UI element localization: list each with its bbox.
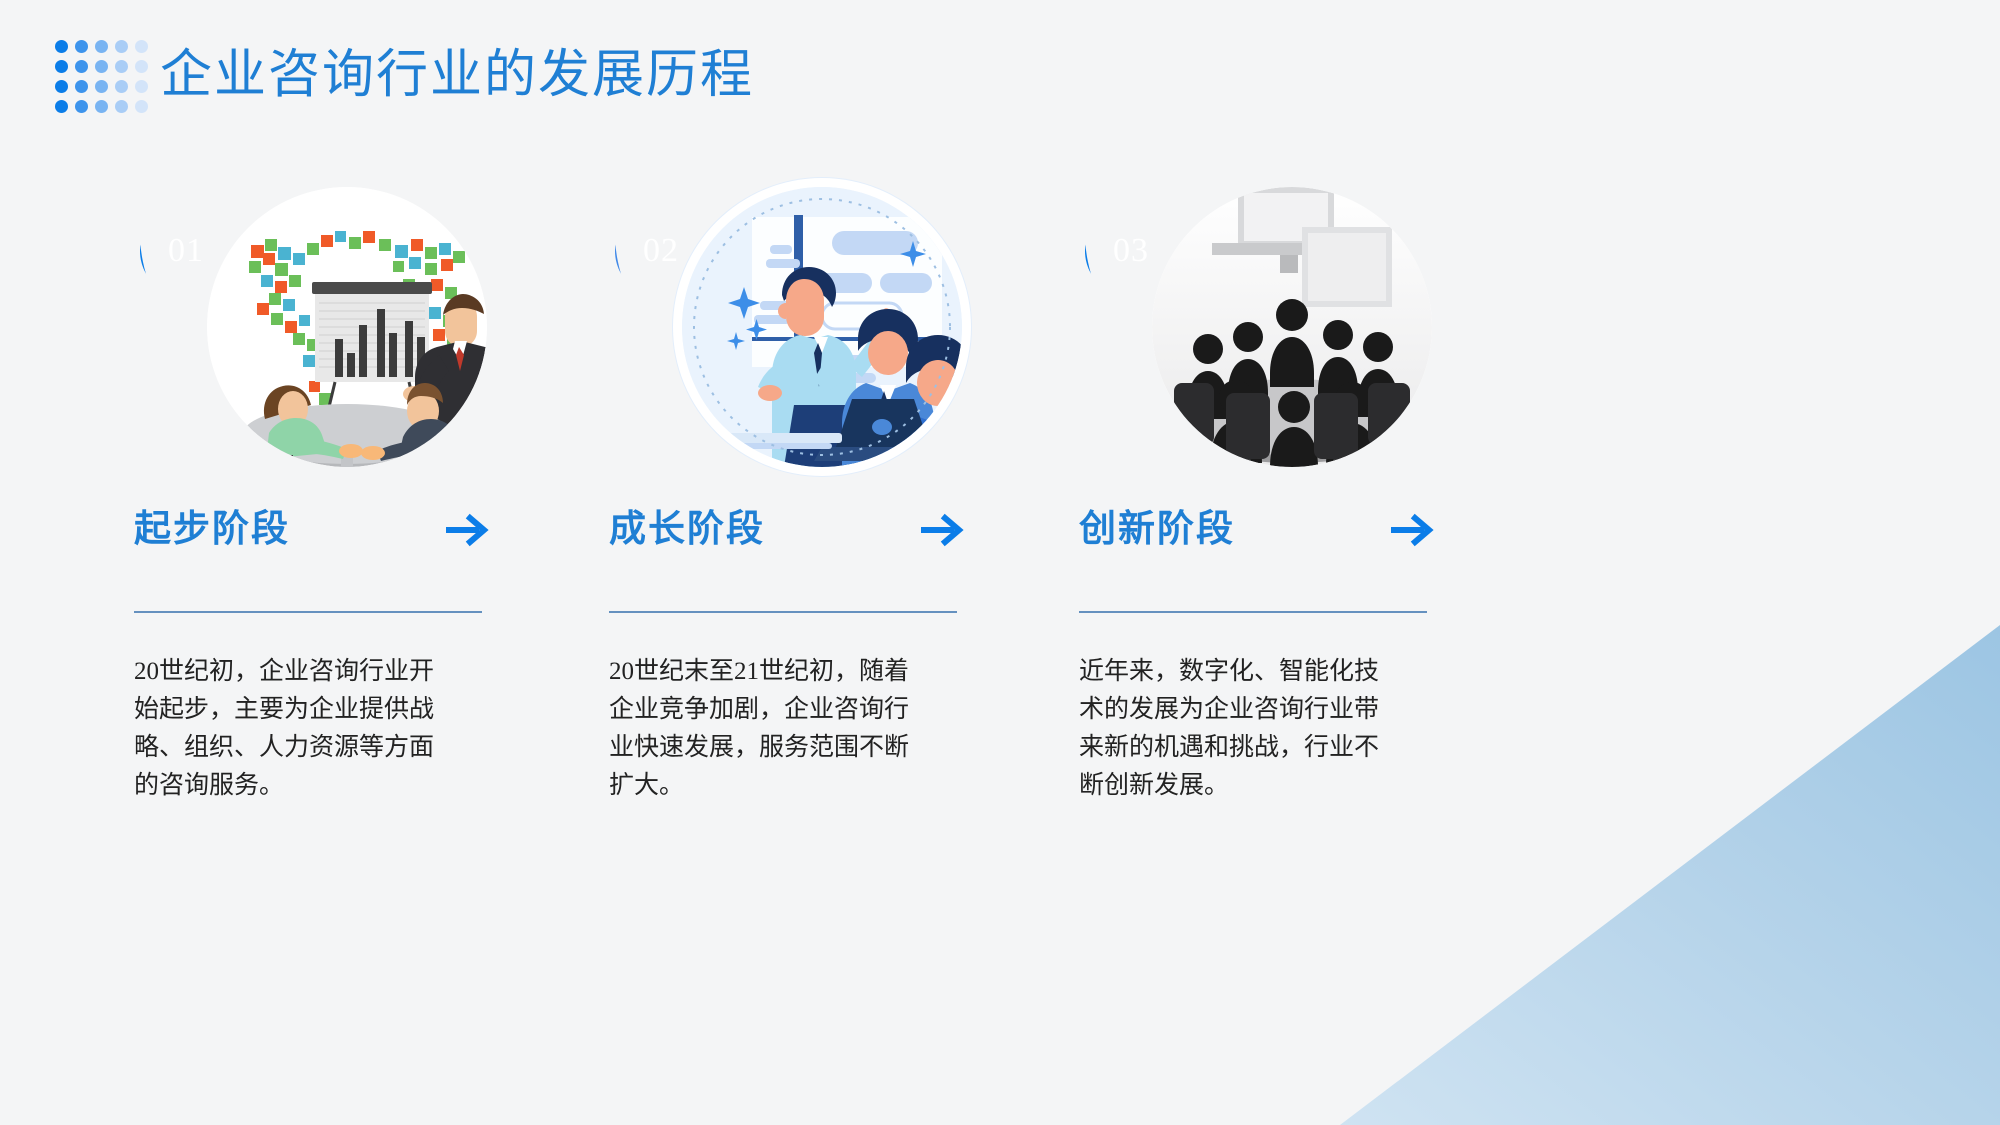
slide-header: 企业咨询行业的发展历程: [0, 0, 2000, 150]
card-body-02: 20世纪末至21世纪初，随着企业竞争加剧，企业咨询行业快速发展，服务范围不断扩大…: [609, 653, 909, 805]
decorative-dot-grid: [55, 40, 155, 120]
card-body-01: 20世纪初，企业咨询行业开始起步，主要为企业提供战略、组织、人力资源等方面的咨询…: [134, 653, 434, 805]
arrow-right-icon[interactable]: [446, 511, 492, 549]
stage-number-badge-02: 02: [615, 205, 707, 297]
stage-number-label: 02: [643, 232, 679, 270]
stage-card-02[interactable]: 02 成长阶段 20世纪末至21世纪初，随着企业竞争加剧，企业咨询行业快速发展，…: [595, 175, 1065, 955]
card-title-02: 成长阶段: [609, 507, 765, 553]
card-body-03: 近年来，数字化、智能化技术的发展为企业咨询行业带来新的机遇和挑战，行业不断创新发…: [1079, 653, 1379, 805]
card-media-02: 02: [607, 175, 947, 475]
arrow-right-icon[interactable]: [1391, 511, 1437, 549]
slide-root: 企业咨询行业的发展历程: [0, 0, 2000, 1125]
card-header-row-01: 起步阶段: [134, 507, 534, 567]
card-media-03: 03: [1077, 175, 1417, 475]
card-header-row-02: 成长阶段: [609, 507, 1009, 567]
team-meeting-whiteboard-illustration: [682, 187, 962, 467]
stage-card-01[interactable]: 01 起步阶段 20世纪初，企业咨询行业开始起步，主要为企业提供战略、组织、人力…: [120, 175, 590, 955]
boardroom-silhouette-meeting-photo: [1152, 187, 1432, 467]
stage-number-label: 01: [168, 232, 204, 270]
card-title-03: 创新阶段: [1079, 507, 1235, 553]
stage-number-label: 03: [1113, 232, 1149, 270]
business-presentation-world-map-illustration: [207, 187, 487, 467]
card-media-01: 01: [132, 175, 472, 475]
arrow-right-icon[interactable]: [921, 511, 967, 549]
card-header-row-03: 创新阶段: [1079, 507, 1479, 567]
stage-card-03[interactable]: 03 创新阶段 近年来，数字化、智能化技术的发展为企业咨询行业带来新的机遇和挑战…: [1065, 175, 1535, 955]
card-title-01: 起步阶段: [134, 507, 290, 553]
stage-number-badge-03: 03: [1085, 205, 1177, 297]
card-divider-03: [1079, 611, 1427, 613]
stage-cards-container: 01 起步阶段 20世纪初，企业咨询行业开始起步，主要为企业提供战略、组织、人力…: [0, 175, 2000, 955]
stage-number-badge-01: 01: [140, 205, 232, 297]
card-divider-02: [609, 611, 957, 613]
page-title: 企业咨询行业的发展历程: [160, 44, 754, 108]
card-divider-01: [134, 611, 482, 613]
